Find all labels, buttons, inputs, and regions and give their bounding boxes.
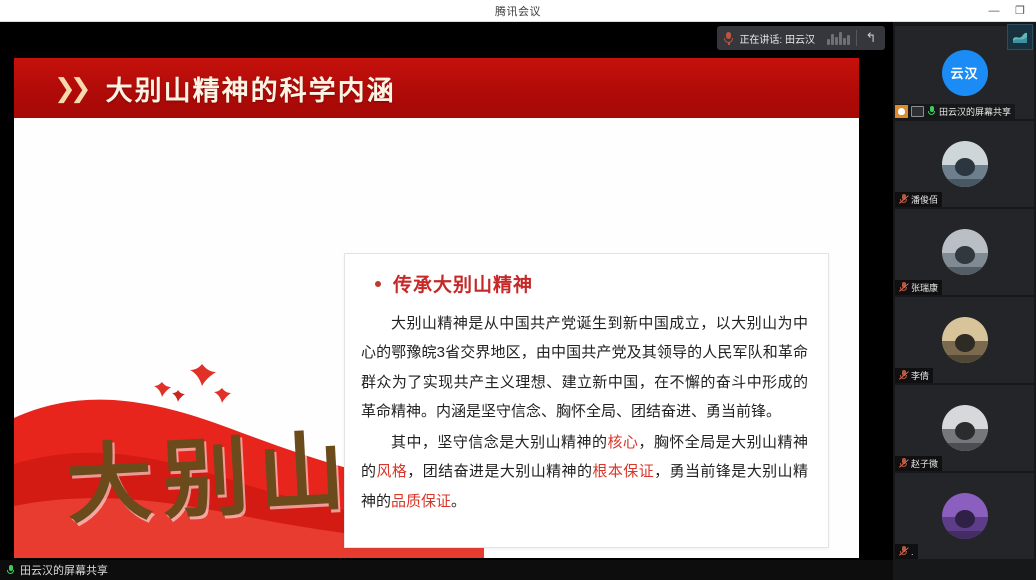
- speaker-info: 正在讲话: 田云汉: [719, 31, 821, 46]
- paragraph-run: 。: [451, 493, 466, 510]
- collapse-arrow-icon[interactable]: ↰: [859, 26, 883, 50]
- slide-body: 大别山 传承大别山精神 大别山精神是从中国共产党诞生到新中国成立，以大别山为中心…: [14, 118, 859, 558]
- participant-tile[interactable]: 李倩: [895, 297, 1034, 383]
- double-chevron-right-icon: ❯❯: [54, 73, 86, 104]
- calligraphy-text: 大别山: [63, 401, 357, 541]
- screen-share-status-strip: 田云汉的屏幕共享: [0, 560, 893, 580]
- avatar: [942, 405, 988, 451]
- screen-share-label: 田云汉的屏幕共享: [20, 562, 108, 578]
- presentation-slide: ❯❯ 大别山精神的科学内涵 大别山: [14, 58, 859, 558]
- microphone-muted-icon: [899, 194, 908, 205]
- participant-tile[interactable]: 张瑞康: [895, 209, 1034, 295]
- divider: [856, 30, 857, 46]
- window-controls: — ❐: [982, 0, 1032, 22]
- paragraph-run: ，团结奋进是大别山精神的: [407, 463, 592, 480]
- avatar: [942, 141, 988, 187]
- microphone-muted-icon: [899, 282, 908, 293]
- participant-name: 赵子微: [911, 457, 938, 470]
- participant-tile[interactable]: .: [895, 473, 1034, 559]
- participant-name: 田云汉的屏幕共享: [939, 105, 1011, 118]
- microphone-icon: [6, 565, 15, 576]
- window-titlebar: 腾讯会议 — ❐: [0, 0, 1036, 22]
- microphone-icon: [927, 106, 936, 117]
- highlighted-term: 品质保证: [391, 493, 451, 510]
- slide-paragraph-2: 其中，坚守信念是大别山精神的核心，胸怀全局是大别山精神的风格，团结奋进是大别山精…: [361, 428, 808, 516]
- bullet-heading-row: 传承大别山精神: [361, 270, 808, 297]
- highlighted-term: 风格: [376, 463, 407, 480]
- paragraph-run: 其中，坚守信念是大别山精神的: [391, 434, 607, 451]
- speaker-label: 正在讲话: 田云汉: [739, 31, 815, 46]
- slide-title: 大别山精神的科学内涵: [106, 69, 396, 108]
- avatar: [942, 317, 988, 363]
- avatar: [942, 493, 988, 539]
- participant-name-bar: 田云汉的屏幕共享: [895, 104, 1015, 119]
- restore-button[interactable]: ❐: [1008, 1, 1032, 21]
- bullet-title: 传承大别山精神: [393, 270, 533, 297]
- slide-paragraph-1: 大别山精神是从中国共产党诞生到新中国成立，以大别山为中心的鄂豫皖3省交界地区，由…: [361, 309, 808, 426]
- participant-name-bar: .: [895, 544, 918, 559]
- participant-tile[interactable]: 潘俊佰: [895, 121, 1034, 207]
- host-badge-icon: [895, 105, 908, 118]
- participant-rail[interactable]: 云汉田云汉的屏幕共享潘俊佰张瑞康李倩赵子微.: [893, 22, 1036, 580]
- minimize-button[interactable]: —: [982, 1, 1006, 21]
- window-title: 腾讯会议: [495, 3, 541, 19]
- audio-waveform-icon: [823, 31, 854, 45]
- screen-share-thumbnail-icon[interactable]: [1007, 24, 1033, 50]
- paragraph-run: 大别山精神是从中国共产党诞生到新中国成立，以大别山为中心的鄂豫皖3省交界地区，由…: [361, 315, 808, 420]
- participant-tiles: 云汉田云汉的屏幕共享潘俊佰张瑞康李倩赵子微.: [893, 26, 1036, 559]
- participant-name-bar: 张瑞康: [895, 280, 942, 295]
- avatar: [942, 229, 988, 275]
- participant-name-bar: 潘俊佰: [895, 192, 942, 207]
- tencent-meeting-window: 腾讯会议 — ❐ 正在讲话: 田云汉 ↰: [0, 0, 1036, 580]
- participant-name-bar: 李倩: [895, 368, 933, 383]
- avatar: 云汉: [942, 50, 988, 96]
- shared-screen-stage: 正在讲话: 田云汉 ↰ ❯❯ 大别山精神的科学内涵: [0, 22, 893, 580]
- microphone-muted-icon: [723, 32, 734, 45]
- participant-tile[interactable]: 赵子微: [895, 385, 1034, 471]
- slide-text-card: 传承大别山精神 大别山精神是从中国共产党诞生到新中国成立，以大别山为中心的鄂豫皖…: [344, 253, 829, 548]
- bullet-dot-icon: [375, 281, 381, 287]
- highlighted-term: 根本保证: [592, 463, 654, 480]
- participant-name-bar: 赵子微: [895, 456, 942, 471]
- microphone-muted-icon: [899, 458, 908, 469]
- highlighted-term: 核心: [607, 434, 638, 451]
- microphone-muted-icon: [899, 370, 908, 381]
- slide-header-banner: ❯❯ 大别山精神的科学内涵: [14, 58, 859, 118]
- participant-name: 李倩: [911, 369, 929, 382]
- active-speaker-bar[interactable]: 正在讲话: 田云汉 ↰: [717, 26, 885, 50]
- participant-name: 张瑞康: [911, 281, 938, 294]
- microphone-muted-icon: [899, 546, 908, 557]
- screen-share-icon: [911, 106, 924, 117]
- participant-name: .: [911, 547, 914, 557]
- participant-name: 潘俊佰: [911, 193, 938, 206]
